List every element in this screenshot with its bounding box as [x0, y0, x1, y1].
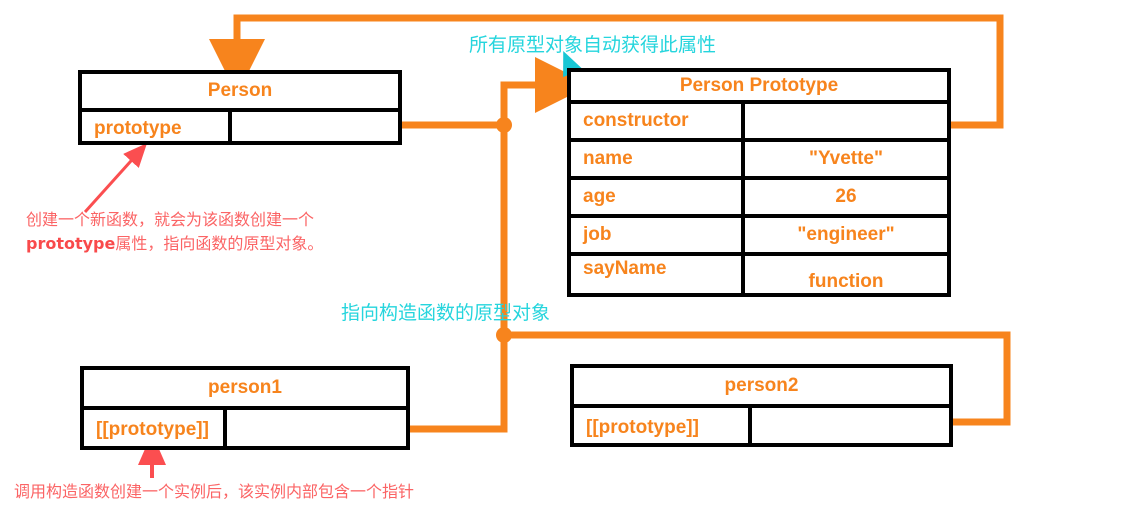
proto-value-sayname: function	[745, 256, 947, 297]
proto-key-name: name	[571, 142, 745, 176]
annotation-red-bottom: 调用构造函数创建一个实例后，该实例内部包含一个指针	[14, 480, 414, 504]
proto-key-sayname: sayName	[571, 256, 745, 297]
proto-row-sayname[interactable]: sayName function	[571, 256, 947, 297]
person-box-title: Person	[82, 74, 398, 112]
person2-key-prototype: [[prototype]]	[574, 408, 752, 447]
person-prototype-box[interactable]: Person Prototype constructor name "Yvett…	[567, 68, 951, 297]
annotation-red-left-rest: 属性，指向函数的原型对象。	[115, 234, 323, 253]
person2-row-prototype[interactable]: [[prototype]]	[574, 408, 949, 447]
person-key-prototype: prototype	[82, 112, 232, 145]
person2-box[interactable]: person2 [[prototype]]	[570, 364, 953, 447]
proto-key-constructor: constructor	[571, 104, 745, 138]
proto-value-constructor	[745, 104, 947, 138]
person2-value-prototype	[752, 408, 949, 447]
annotation-red-left-bold: prototype	[26, 234, 115, 253]
annotation-cyan-middle: 指向构造函数的原型对象	[341, 298, 550, 325]
proto-key-age: age	[571, 180, 745, 214]
person1-box-title: person1	[84, 370, 406, 410]
diagram-canvas: Person prototype Person Prototype constr…	[0, 0, 1128, 515]
person1-box[interactable]: person1 [[prototype]]	[80, 366, 410, 450]
dot-junction-lower	[496, 327, 512, 343]
proto-row-constructor[interactable]: constructor	[571, 104, 947, 142]
annotation-cyan-top: 所有原型对象自动获得此属性	[469, 30, 716, 57]
proto-key-job: job	[571, 218, 745, 252]
person-prototype-box-title: Person Prototype	[571, 72, 947, 104]
person1-row-prototype[interactable]: [[prototype]]	[84, 410, 406, 450]
person1-value-prototype	[227, 410, 406, 450]
person-row-prototype[interactable]: prototype	[82, 112, 398, 145]
proto-row-age[interactable]: age 26	[571, 180, 947, 218]
proto-value-age: 26	[745, 180, 947, 214]
proto-row-job[interactable]: job "engineer"	[571, 218, 947, 256]
red-pointer-arrow-top	[85, 152, 139, 212]
person1-key-prototype: [[prototype]]	[84, 410, 227, 450]
proto-row-name[interactable]: name "Yvette"	[571, 142, 947, 180]
person-value-prototype	[232, 112, 398, 145]
person-box[interactable]: Person prototype	[78, 70, 402, 145]
annotation-red-left-line2: prototype属性，指向函数的原型对象。	[26, 232, 323, 256]
person2-box-title: person2	[574, 368, 949, 408]
annotation-red-left: 创建一个新函数，就会为该函数创建一个 prototype属性，指向函数的原型对象…	[26, 208, 323, 256]
annotation-red-left-line1: 创建一个新函数，就会为该函数创建一个	[26, 208, 323, 232]
dot-junction-upper	[496, 117, 512, 133]
proto-value-job: "engineer"	[745, 218, 947, 252]
proto-value-name: "Yvette"	[745, 142, 947, 176]
